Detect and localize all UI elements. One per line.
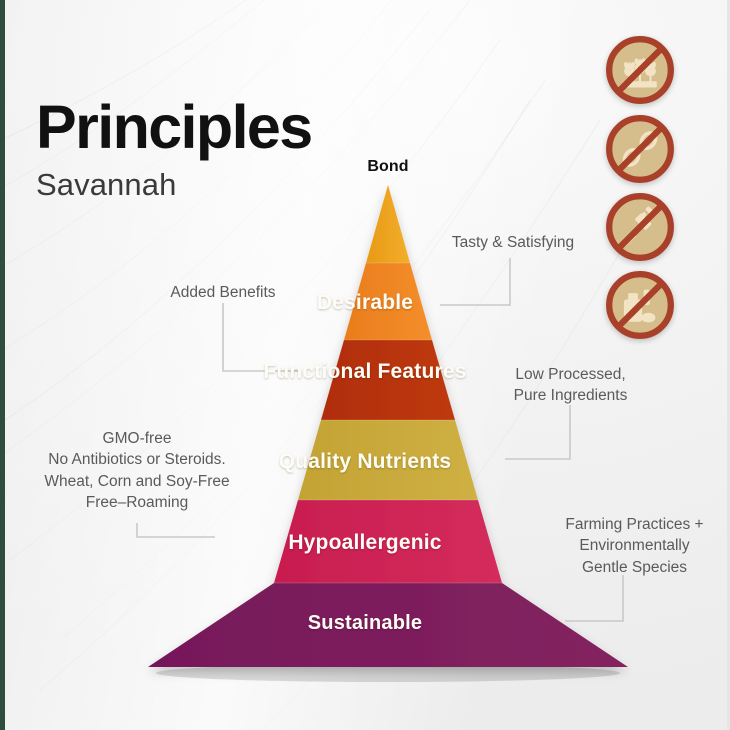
infographic-canvas: Principles Savannah bbox=[0, 0, 730, 730]
callout-tasty-satisfying: Tasty & Satisfying bbox=[443, 232, 583, 253]
no-steroids-badge bbox=[605, 270, 675, 340]
no-corn-badge bbox=[605, 114, 675, 184]
tier-label-sustainable: Sustainable bbox=[0, 612, 730, 634]
pyramid-tiers bbox=[148, 185, 628, 667]
callout-farming-practices: Farming Practices + Environmentally Gent… bbox=[552, 514, 717, 578]
tier-0-shape bbox=[366, 185, 410, 263]
no-antibiotics-badge bbox=[605, 192, 675, 262]
callout-added-benefits: Added Benefits bbox=[147, 282, 299, 303]
pyramid-apex-label: Bond bbox=[328, 158, 448, 176]
callout-low-processed: Low Processed, Pure Ingredients bbox=[498, 364, 643, 407]
no-grain-badge bbox=[605, 35, 675, 105]
callout-gmo-free: GMO-free No Antibiotics or Steroids. Whe… bbox=[18, 428, 256, 514]
